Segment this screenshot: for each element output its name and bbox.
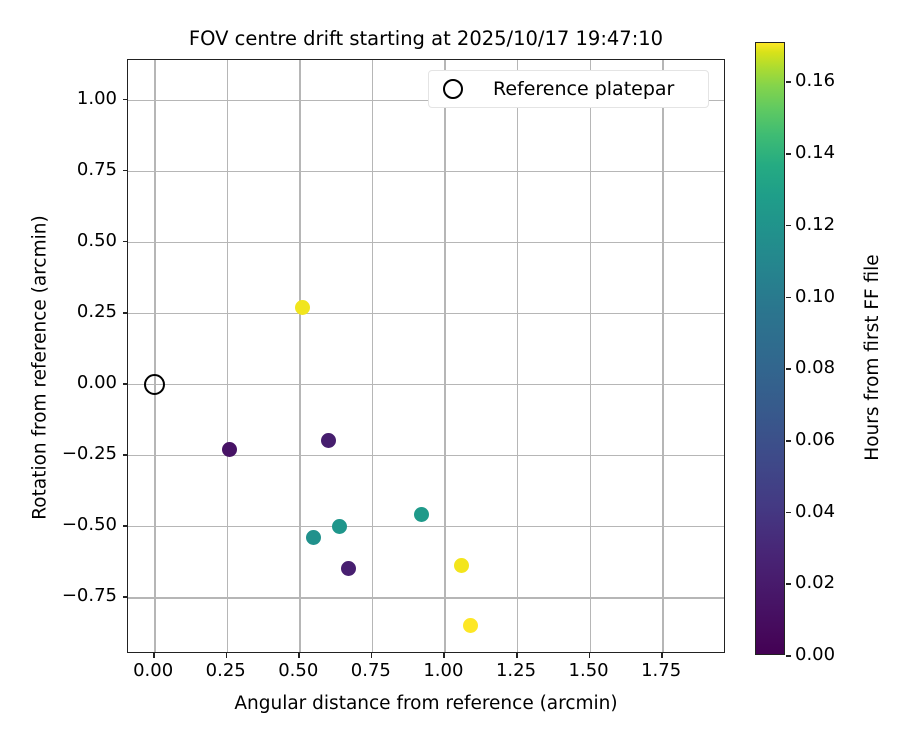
colorbar-tick-label: 0.16 xyxy=(795,70,835,92)
colorbar-tick-label: 0.14 xyxy=(795,142,835,164)
gridline-horizontal xyxy=(128,455,724,456)
x-tick-mark xyxy=(226,653,228,658)
colorbar-tick-mark xyxy=(786,225,791,227)
y-tick-label: 0.25 xyxy=(0,301,117,323)
x-tick-label: 1.25 xyxy=(476,660,556,682)
colorbar-tick-mark xyxy=(786,153,791,155)
colorbar-tick-mark xyxy=(786,368,791,370)
x-tick-label: 0.75 xyxy=(331,660,411,682)
colorbar-label: Hours from first FF file xyxy=(861,51,884,664)
colorbar-tick-label: 0.00 xyxy=(795,644,835,666)
y-tick-label: 0.00 xyxy=(0,372,117,394)
colorbar[interactable] xyxy=(755,42,785,655)
data-point[interactable] xyxy=(321,433,336,448)
data-point[interactable] xyxy=(463,618,478,633)
y-tick-mark xyxy=(123,241,128,243)
matplotlib-figure: FOV centre drift starting at 2025/10/17 … xyxy=(0,0,900,750)
y-tick-mark xyxy=(123,99,128,101)
y-tick-mark xyxy=(123,312,128,314)
x-tick-label: 1.00 xyxy=(403,660,483,682)
x-axis-label: Angular distance from reference (arcmin) xyxy=(127,692,725,715)
colorbar-tick-mark xyxy=(786,81,791,83)
page-title: FOV centre drift starting at 2025/10/17 … xyxy=(127,27,725,51)
gridline-horizontal xyxy=(128,384,724,385)
y-tick-mark xyxy=(123,454,128,456)
y-tick-label: 0.50 xyxy=(0,230,117,252)
x-tick-label: 0.25 xyxy=(186,660,266,682)
x-tick-label: 0.00 xyxy=(113,660,193,682)
gridline-vertical xyxy=(517,60,518,652)
colorbar-tick-label: 0.08 xyxy=(795,357,835,379)
colorbar-tick-label: 0.12 xyxy=(795,214,835,236)
y-tick-mark xyxy=(123,383,128,385)
legend[interactable]: Reference platepar xyxy=(428,70,709,108)
gridline-horizontal xyxy=(128,313,724,314)
gridline-vertical xyxy=(662,60,663,652)
data-point[interactable] xyxy=(454,558,469,573)
data-point[interactable] xyxy=(306,530,321,545)
y-tick-mark xyxy=(123,525,128,527)
x-tick-mark xyxy=(153,653,155,658)
x-tick-label: 1.50 xyxy=(549,660,629,682)
colorbar-tick-mark xyxy=(786,297,791,299)
x-tick-mark xyxy=(589,653,591,658)
gridline-horizontal xyxy=(128,242,724,243)
colorbar-tick-mark xyxy=(786,583,791,585)
x-tick-label: 0.50 xyxy=(258,660,338,682)
x-tick-label: 1.75 xyxy=(621,660,701,682)
colorbar-tick-mark xyxy=(786,512,791,514)
gridline-vertical xyxy=(299,60,300,652)
colorbar-tick-label: 0.02 xyxy=(795,572,835,594)
y-tick-mark xyxy=(123,170,128,172)
gridline-vertical xyxy=(444,60,445,652)
y-tick-label: 1.00 xyxy=(0,88,117,110)
open-circle-icon xyxy=(443,79,463,99)
data-point[interactable] xyxy=(341,561,356,576)
x-tick-mark xyxy=(443,653,445,658)
data-point[interactable] xyxy=(414,507,429,522)
y-tick-label: −0.75 xyxy=(0,585,117,607)
legend-item-label: Reference platepar xyxy=(493,78,674,100)
colorbar-tick-mark xyxy=(786,655,791,657)
gridline-vertical xyxy=(154,60,155,652)
colorbar-tick-mark xyxy=(786,440,791,442)
y-tick-mark xyxy=(123,596,128,598)
colorbar-tick-label: 0.10 xyxy=(795,286,835,308)
gridline-vertical xyxy=(590,60,591,652)
gridline-horizontal xyxy=(128,171,724,172)
data-point[interactable] xyxy=(332,519,347,534)
colorbar-tick-label: 0.04 xyxy=(795,501,835,523)
gridline-vertical xyxy=(227,60,228,652)
y-tick-label: 0.75 xyxy=(0,159,117,181)
gridline-vertical xyxy=(372,60,373,652)
data-point[interactable] xyxy=(222,442,237,457)
reference-platepar-marker[interactable] xyxy=(144,374,165,395)
gridline-horizontal xyxy=(128,597,724,598)
x-tick-mark xyxy=(371,653,373,658)
gridline-horizontal xyxy=(128,526,724,527)
colorbar-tick-label: 0.06 xyxy=(795,429,835,451)
data-point[interactable] xyxy=(295,300,310,315)
x-tick-mark xyxy=(516,653,518,658)
plot-area xyxy=(127,59,725,653)
y-tick-label: −0.25 xyxy=(0,443,117,465)
y-axis-label: Rotation from reference (arcmin) xyxy=(29,71,52,665)
y-tick-label: −0.50 xyxy=(0,514,117,536)
x-tick-mark xyxy=(298,653,300,658)
x-tick-mark xyxy=(661,653,663,658)
